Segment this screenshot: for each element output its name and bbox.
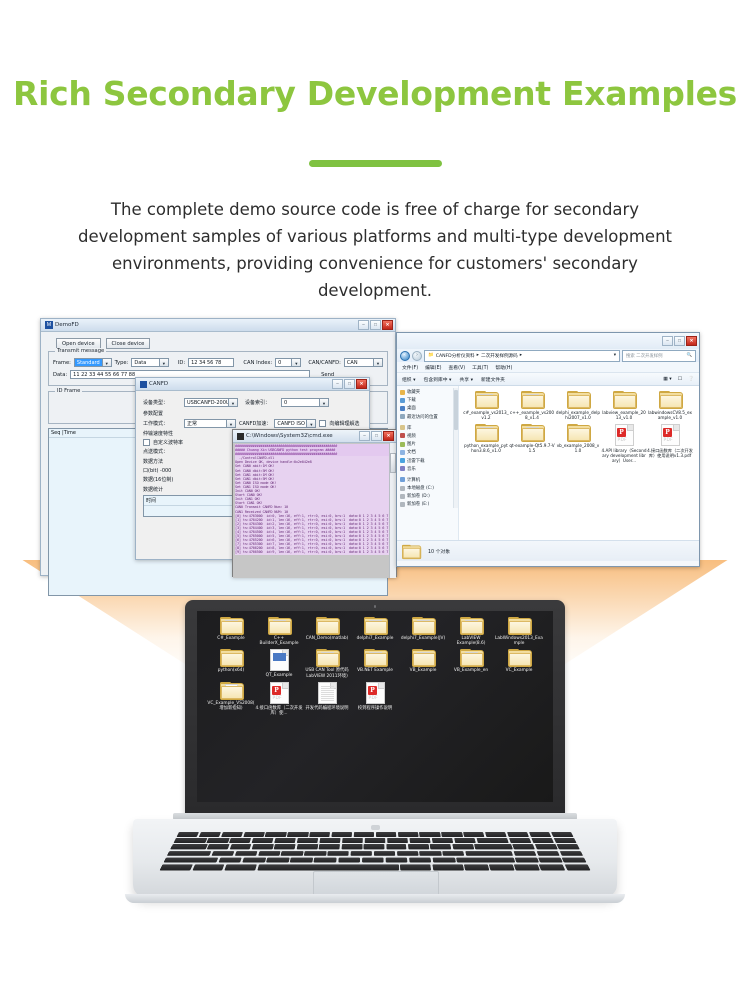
breadcrumb-item-1[interactable]: 二次开发样例源码 <box>481 353 518 359</box>
view-mode-icon[interactable]: ▦ ▾ <box>663 377 671 382</box>
tree-node-icon <box>400 414 405 419</box>
id-label: ID: <box>178 360 185 366</box>
file-name-label: qt-example-Qt5.9.7-V1.5 <box>509 443 555 453</box>
keyboard-key[interactable] <box>274 844 296 849</box>
desktop-icon[interactable]: LabWindows2013_Example <box>495 617 543 646</box>
keyboard-key[interactable] <box>476 838 509 843</box>
close-device-button[interactable]: Close device <box>106 338 151 349</box>
work-mode-value: 正常 <box>185 420 226 427</box>
sidebar-scrollbar[interactable] <box>453 388 458 508</box>
keyboard-key[interactable] <box>252 844 274 849</box>
sidebar-item-9[interactable]: 音乐 <box>400 466 456 472</box>
desktop-icon[interactable]: PPDF4.接口函数库（二次开发库）使... <box>255 682 303 716</box>
folder-icon <box>460 649 482 666</box>
work-mode-select[interactable]: 正常 ▼ <box>184 419 236 428</box>
tree-node-icon <box>400 433 405 438</box>
new-folder-button[interactable]: 新建文件夹 <box>481 376 505 383</box>
folder-icon <box>268 617 290 634</box>
folder-icon <box>220 649 242 666</box>
file-item[interactable]: vb_example_2008_v1.0 <box>555 424 601 463</box>
keyboard-key[interactable] <box>507 832 529 837</box>
folder-icon <box>316 649 338 666</box>
folder-icon <box>659 391 681 408</box>
close-icon[interactable]: ✕ <box>383 431 394 441</box>
tree-node-icon <box>400 390 405 395</box>
chevron-down-icon[interactable]: ▼ <box>226 420 235 427</box>
keyboard-key[interactable] <box>515 857 539 862</box>
close-icon[interactable]: ✕ <box>686 336 697 346</box>
desktop-icon-grid[interactable]: C#_ExampleC++ BuilderX_ExampleCAN_Demo(m… <box>207 617 553 719</box>
keyboard-key[interactable] <box>419 832 440 837</box>
chevron-down-icon[interactable]: ▼ <box>373 359 382 366</box>
keyboard-key[interactable] <box>432 864 463 870</box>
keyboard-key[interactable] <box>514 851 537 856</box>
folder-icon <box>220 682 242 699</box>
keyboard-key[interactable] <box>538 857 562 862</box>
type-select[interactable]: Data ▼ <box>131 358 168 367</box>
sidebar-item-7[interactable]: 文档 <box>400 449 456 455</box>
keyboard-key[interactable] <box>304 851 326 856</box>
explorer-file-list[interactable]: #c#_example_vs2013_v1.2c++_example_vs200… <box>459 386 699 540</box>
file-item[interactable]: c++_example_vs2008_v1.4 <box>509 391 555 420</box>
minimize-icon[interactable]: – <box>359 431 370 441</box>
breadcrumb-separator: ▸ <box>477 353 479 358</box>
keyboard-key[interactable] <box>207 838 230 843</box>
file-name-label: 4.接口函数库（二次开发库）使用说明v1.3.pdf <box>647 448 693 458</box>
keyboard-key[interactable] <box>454 838 476 843</box>
desktop-icon[interactable]: LabVIEW Example(8.6) <box>447 617 495 646</box>
pdf-file-icon: PPDF <box>366 682 385 704</box>
status-folder-icon <box>402 544 420 558</box>
view-controls[interactable]: ▦ ▾ ☐ ❔ <box>663 377 694 382</box>
desktop-icon[interactable]: delphi7_Example <box>351 617 399 646</box>
keyboard-key[interactable] <box>376 832 397 837</box>
help-icon[interactable]: ❔ <box>688 377 694 382</box>
tree-node-icon <box>400 466 405 471</box>
desktop-icon[interactable]: VB_Example_en <box>447 649 495 678</box>
sidebar-item-label: 收藏夹 <box>407 389 420 395</box>
keyboard-key[interactable] <box>319 844 340 849</box>
demofd-app-icon: M <box>45 321 53 329</box>
explorer-status-bar: 10 个对象 <box>397 540 699 561</box>
keyboard-key[interactable] <box>199 832 221 837</box>
keyboard-key[interactable] <box>252 838 274 843</box>
keyboard-key[interactable] <box>341 844 362 849</box>
keyboard-key[interactable] <box>432 838 454 843</box>
file-item[interactable]: delphi_example_delphi2007_v1.0 <box>555 391 601 420</box>
desktop-icon[interactable]: C++ BuilderX_Example <box>255 617 303 646</box>
console-titlebar[interactable]: C:\Windows\System32\cmd.exe – □ ✕ <box>233 430 396 443</box>
pdf-file-icon: PPDF <box>661 424 680 446</box>
keyboard-key[interactable] <box>177 832 200 837</box>
keyboard-key[interactable] <box>557 844 580 849</box>
organize-button[interactable]: 组织 ▾ <box>402 376 416 383</box>
file-item[interactable]: qt-example-Qt5.9.7-V1.5 <box>509 424 555 463</box>
folder-icon <box>475 424 497 441</box>
webcam-icon <box>374 605 377 608</box>
keyboard-key[interactable] <box>243 832 265 837</box>
maximize-icon[interactable]: □ <box>674 336 685 346</box>
keyboard-key[interactable] <box>441 832 462 837</box>
desktop-icon[interactable]: USB CAN Tool 原代码LabVIEW 2011环境) <box>303 649 351 678</box>
work-mode-row: 工作模式： 正常 ▼ CANFD加速： CANFD ISO ▼ 向编辑理解选 <box>143 419 366 428</box>
file-name-label: c#_example_vs2013_v1.2 <box>463 410 509 420</box>
keyboard-key[interactable] <box>297 844 318 849</box>
sidebar-item-11[interactable]: 本地磁盘 (C:) <box>400 485 456 491</box>
minimize-icon[interactable]: – <box>662 336 673 346</box>
menu-view[interactable]: 查看(V) <box>448 364 465 371</box>
canfd-window-controls[interactable]: – □ ✕ <box>332 379 367 389</box>
sidebar-item-label: 本地磁盘 (C:) <box>407 485 434 491</box>
flow-label-2: 数据(16位制) <box>143 476 173 483</box>
keyboard-row <box>160 864 590 870</box>
explorer-titlebar[interactable]: – □ ✕ <box>397 333 699 349</box>
chevron-down-icon[interactable]: ▼ <box>102 359 111 366</box>
chevron-down-icon[interactable]: ▾ <box>614 353 616 358</box>
sidebar-item-1[interactable]: 下载 <box>400 397 456 403</box>
keyboard-key[interactable] <box>465 851 513 856</box>
keyboard-key[interactable] <box>464 864 489 870</box>
can-canfd-label: CAN/CANFD: <box>308 360 341 366</box>
desktop-icon[interactable]: VB_Example <box>399 649 447 678</box>
tree-node-icon <box>400 486 405 491</box>
keyboard-key[interactable] <box>400 864 431 870</box>
desktop-icon-label: LabVIEW Example(8.6) <box>447 636 495 646</box>
keyboard-key[interactable] <box>160 864 193 870</box>
send-mode-label: 点送模式： <box>143 448 168 455</box>
canfd-titlebar[interactable]: CANFD – □ ✕ <box>136 378 369 391</box>
laptop-keyboard[interactable] <box>164 832 587 862</box>
device-type-label: 设备类型： <box>143 399 181 406</box>
desktop-icon[interactable]: 开发代码编程环境说明 <box>303 682 351 716</box>
demofd-window-controls[interactable]: – □ ✕ <box>358 320 393 330</box>
file-item[interactable]: python_example_python3.8.6_v1.0 <box>463 424 509 463</box>
desktop-icon-label: VB_Example_en <box>454 668 488 673</box>
demofd-title: DemoFD <box>55 322 358 328</box>
laptop-base <box>133 819 617 897</box>
keyboard-key[interactable] <box>229 838 251 843</box>
forward-icon[interactable]: › <box>412 351 422 361</box>
keyboard-key[interactable] <box>386 844 407 849</box>
transmit-field-row-1: Frame: Standard ▼ Type: Data ▼ ID: 12 34… <box>53 358 383 367</box>
desktop-icon-label: 开发代码编程环境说明 <box>306 706 349 711</box>
chevron-down-icon[interactable]: ▼ <box>228 399 237 406</box>
keyboard-key[interactable] <box>211 851 234 856</box>
frame-value: Standard <box>75 359 102 366</box>
file-name-label: labwindowsCV8.5_example_v1.0 <box>647 410 693 420</box>
file-item[interactable]: labwindowsCV8.5_example_v1.0 <box>647 391 693 420</box>
file-item[interactable]: labview_example_2013_v1.0 <box>601 391 647 420</box>
folder-icon <box>567 424 589 441</box>
keyboard-key[interactable] <box>514 864 539 870</box>
keyboard-key[interactable] <box>287 832 308 837</box>
keyboard-key[interactable] <box>474 844 513 849</box>
laptop-lid: C#_ExampleC++ BuilderX_ExampleCAN_Demo(m… <box>185 600 565 815</box>
file-item[interactable]: PPDF4.接口函数库（二次开发库）使用说明v1.3.pdf <box>647 424 693 463</box>
keyboard-row <box>173 838 576 843</box>
chevron-down-icon[interactable]: ▼ <box>306 420 315 427</box>
keyboard-key[interactable] <box>225 864 257 870</box>
minimize-icon[interactable]: – <box>358 320 369 330</box>
keyboard-key[interactable] <box>364 844 385 849</box>
close-icon[interactable]: ✕ <box>382 320 393 330</box>
desktop-icon[interactable]: C#_Example <box>207 617 255 646</box>
folder-icon <box>412 649 434 666</box>
keyboard-key[interactable] <box>452 844 474 849</box>
keyboard-key[interactable] <box>485 832 507 837</box>
file-name-label: vb_example_2008_v1.0 <box>555 443 601 453</box>
keyboard-key[interactable] <box>265 832 287 837</box>
keyboard-key[interactable] <box>173 838 206 843</box>
keyboard-key[interactable] <box>539 864 565 870</box>
console-text: ########################################… <box>233 443 396 556</box>
keyboard-key[interactable] <box>442 851 464 856</box>
desktop-icon[interactable]: CAN_Demo(matlab) <box>303 617 351 646</box>
keyboard-key[interactable] <box>314 857 337 862</box>
folder-icon <box>364 617 386 634</box>
keyboard-key[interactable] <box>513 844 535 849</box>
desktop-icon-label: VC_Example_VS2008(增加新指知) <box>207 701 255 711</box>
work-mode-label: 工作模式： <box>143 420 181 427</box>
keyboard-key[interactable] <box>170 844 207 849</box>
sidebar-item-6[interactable]: 图片 <box>400 441 456 447</box>
desktop-icon[interactable]: PPDF校到程序操作说明 <box>351 682 399 716</box>
file-name-label: c++_example_vs2008_v1.4 <box>509 410 555 420</box>
console-scrollbar[interactable] <box>389 443 396 578</box>
maximize-icon[interactable]: □ <box>344 379 355 389</box>
sidebar-item-label: 库 <box>407 425 411 431</box>
keyboard-key[interactable] <box>374 851 395 856</box>
frame-select[interactable]: Standard ▼ <box>74 358 112 367</box>
cmd-console-window[interactable]: C:\Windows\System32\cmd.exe – □ ✕ ######… <box>232 429 397 577</box>
desktop-icon-label: delphi7_Example <box>357 636 394 641</box>
baud-label: 仲输速度特性 <box>143 430 173 437</box>
status-item-count: 10 个对象 <box>428 548 450 555</box>
can-canfd-value: CAN <box>345 359 373 366</box>
desktop-icon[interactable]: delphi7_Example(JV) <box>399 617 447 646</box>
windows-explorer-window[interactable]: – □ ✕ ‹ › 📁 CANFD分析仪资料 ▸ 二次开发样例源码 ▸ ▾ 搜索… <box>396 332 700 567</box>
keyboard-key[interactable] <box>551 832 574 837</box>
minimize-icon[interactable]: – <box>332 379 343 389</box>
keyboard-key[interactable] <box>419 851 441 856</box>
desktop-icon[interactable]: python(x64) <box>207 649 255 678</box>
file-item[interactable]: #c#_example_vs2013_v1.2 <box>463 391 509 420</box>
search-input[interactable]: 搜索 二次开发样例 🔍 <box>622 350 696 362</box>
canfd-accel-label: CANFD加速： <box>239 420 271 427</box>
keyboard-key[interactable] <box>531 838 554 843</box>
type-label: Type: <box>115 360 129 366</box>
close-icon[interactable]: ✕ <box>356 379 367 389</box>
keyboard-row <box>170 844 580 849</box>
sidebar-item-0[interactable]: 收藏夹 <box>400 389 456 395</box>
folder-icon <box>521 391 543 408</box>
keyboard-key[interactable] <box>258 851 281 856</box>
tree-node-icon <box>400 450 405 455</box>
back-icon[interactable]: ‹ <box>400 351 410 361</box>
keyboard-key[interactable] <box>319 838 340 843</box>
keyboard-key[interactable] <box>338 857 360 862</box>
keyboard-key[interactable] <box>309 832 330 837</box>
sidebar-item-2[interactable]: 桌面 <box>400 405 456 411</box>
keyboard-key[interactable] <box>290 857 313 862</box>
tree-node-icon <box>400 442 405 447</box>
sidebar-item-12[interactable]: 新加卷 (D:) <box>400 493 456 499</box>
breadcrumb-item-0[interactable]: CANFD分析仪资料 <box>436 353 475 359</box>
custom-baud-checkbox[interactable] <box>143 439 150 446</box>
keyboard-key[interactable] <box>430 844 451 849</box>
sidebar-item-5[interactable]: 视频 <box>400 433 456 439</box>
canfd-accel-select[interactable]: CANFD ISO ▼ <box>274 419 316 428</box>
keyboard-key[interactable] <box>529 832 551 837</box>
breadcrumb-separator: ▸ <box>520 353 522 358</box>
menu-tools[interactable]: 工具(T) <box>472 364 488 371</box>
console-output-area[interactable]: ########################################… <box>233 443 396 578</box>
desktop-icon-label: VC_Example <box>506 668 533 673</box>
keyboard-key[interactable] <box>350 851 372 856</box>
canfd-app-icon <box>140 381 147 388</box>
param-section-label: 参数配置 <box>143 410 366 417</box>
sidebar-item-10[interactable]: 计算机 <box>400 477 456 483</box>
keyboard-key[interactable] <box>365 838 386 843</box>
keyboard-key[interactable] <box>235 851 258 856</box>
sidebar-item-3[interactable]: 最近访问的位置 <box>400 414 456 420</box>
keyboard-key[interactable] <box>409 838 430 843</box>
frame-label: Frame: <box>53 360 71 366</box>
keyboard-key[interactable] <box>362 857 384 862</box>
sidebar-item-8[interactable]: 迅雷下载 <box>400 458 456 464</box>
explorer-menubar[interactable]: 文件(F) 编辑(E) 查看(V) 工具(T) 帮助(H) <box>397 362 699 372</box>
keyboard-key[interactable] <box>509 838 532 843</box>
explorer-commandbar[interactable]: 组织 ▾ 包含到库中 ▾ 共享 ▾ 新建文件夹 ▦ ▾ ☐ ❔ <box>397 372 699 386</box>
device-index-select[interactable]: 0 ▼ <box>281 398 329 407</box>
keyboard-key[interactable] <box>281 851 303 856</box>
keyboard-key[interactable] <box>163 857 218 862</box>
keyboard-key[interactable] <box>297 838 319 843</box>
power-button[interactable] <box>371 825 380 830</box>
chevron-down-icon[interactable]: ▼ <box>319 399 328 406</box>
folder-icon: # <box>475 391 497 408</box>
maximize-icon[interactable]: □ <box>370 320 381 330</box>
explorer-navigation-bar[interactable]: ‹ › 📁 CANFD分析仪资料 ▸ 二次开发样例源码 ▸ ▾ 搜索 二次开发样… <box>397 349 699 362</box>
keyboard-key[interactable] <box>397 851 419 856</box>
sidebar-item-label: 迅雷下载 <box>407 458 425 464</box>
keyboard-key[interactable] <box>398 832 419 837</box>
device-type-select[interactable]: USBCANFD-200U ▼ <box>184 398 238 407</box>
scrollbar-thumb[interactable] <box>454 390 458 430</box>
keyboard-key[interactable] <box>327 851 349 856</box>
keyboard-key[interactable] <box>387 838 408 843</box>
desktop-icon-label: 4.接口函数库（二次开发库）使... <box>255 706 303 716</box>
file-item[interactable]: PPDF4.API library（Secondary development … <box>601 424 647 463</box>
id-input[interactable]: 12 34 56 78 <box>188 358 234 367</box>
keyboard-key[interactable] <box>242 857 266 862</box>
can-index-select[interactable]: 0 ▼ <box>275 358 301 367</box>
document-file-icon <box>270 649 289 671</box>
sidebar-item-label: 新加卷 (D:) <box>407 493 430 499</box>
accel-checkbox-label: 向编辑理解选 <box>329 420 359 427</box>
pdf-file-icon: PPDF <box>615 424 634 446</box>
tree-node-icon <box>400 477 405 482</box>
keyboard-row <box>177 832 574 837</box>
preview-pane-icon[interactable]: ☐ <box>678 377 682 382</box>
console-title: C:\Windows\System32\cmd.exe <box>246 433 359 439</box>
keyboard-key[interactable] <box>229 844 251 849</box>
can-canfd-select[interactable]: CAN ▼ <box>344 358 383 367</box>
keyboard-key[interactable] <box>535 844 558 849</box>
sidebar-item-13[interactable]: 新加卷 (E:) <box>400 501 456 507</box>
desktop-icon[interactable]: QT_Example <box>255 649 303 678</box>
keyboard-key[interactable] <box>408 844 429 849</box>
keyboard-key[interactable] <box>257 864 399 870</box>
keyboard-key[interactable] <box>331 832 352 837</box>
chevron-down-icon[interactable]: ▼ <box>159 359 168 366</box>
keyboard-key[interactable] <box>463 832 485 837</box>
folder-icon <box>220 617 242 634</box>
keyboard-key[interactable] <box>221 832 243 837</box>
laptop-mockup: C#_ExampleC++ BuilderX_ExampleCAN_Demo(m… <box>125 600 625 930</box>
desktop-icon-label: 校到程序操作说明 <box>358 706 392 711</box>
accel-checkbox[interactable] <box>319 420 326 427</box>
desktop-icon-label: QT_Example <box>266 673 293 678</box>
keyboard-key[interactable] <box>456 857 515 862</box>
explorer-main-area: 收藏夹下载桌面最近访问的位置库视频图片文档迅雷下载音乐计算机本地磁盘 (C:)新… <box>397 386 699 540</box>
maximize-icon[interactable]: □ <box>371 431 382 441</box>
menu-edit[interactable]: 编辑(E) <box>425 364 441 371</box>
menu-help[interactable]: 帮助(H) <box>495 364 512 371</box>
search-icon[interactable]: 🔍 <box>687 353 692 358</box>
keyboard-key[interactable] <box>167 851 212 856</box>
keyboard-key[interactable] <box>218 857 242 862</box>
folder-icon <box>508 649 530 666</box>
keyboard-key[interactable] <box>489 864 514 870</box>
keyboard-key[interactable] <box>274 838 296 843</box>
keyboard-key[interactable] <box>536 851 560 856</box>
menu-file[interactable]: 文件(F) <box>402 364 418 371</box>
keyboard-key[interactable] <box>409 857 432 862</box>
keyboard-key[interactable] <box>342 838 363 843</box>
keyboard-key[interactable] <box>559 851 583 856</box>
keyboard-key[interactable] <box>562 857 587 862</box>
share-button[interactable]: 共享 ▾ <box>459 376 473 383</box>
desktop-icon-label: python(x64) <box>218 668 244 673</box>
keyboard-key[interactable] <box>385 857 407 862</box>
device-index-value: 0 <box>282 399 319 406</box>
keyboard-key[interactable] <box>266 857 289 862</box>
demofd-titlebar[interactable]: M DemoFD – □ ✕ <box>41 319 395 332</box>
keyboard-key[interactable] <box>553 838 576 843</box>
console-line: [9] ts:4766500 id:9, len:16, eff:1, rtr:… <box>235 550 394 554</box>
include-in-library-button[interactable]: 包含到库中 ▾ <box>424 376 452 383</box>
sidebar-item-4[interactable]: 库 <box>400 425 456 431</box>
device-button-row: Open device Close device <box>56 338 392 349</box>
console-window-controls[interactable]: – □ ✕ <box>359 431 394 441</box>
explorer-navigation-pane[interactable]: 收藏夹下载桌面最近访问的位置库视频图片文档迅雷下载音乐计算机本地磁盘 (C:)新… <box>397 386 459 540</box>
chevron-down-icon[interactable]: ▼ <box>291 359 300 366</box>
keyboard-key[interactable] <box>207 844 230 849</box>
desktop-icon[interactable]: VB.NET Example <box>351 649 399 678</box>
folder-icon <box>508 617 530 634</box>
keyboard-key[interactable] <box>192 864 225 870</box>
desktop-icon[interactable]: VC_Example_VS2008(增加新指知) <box>207 682 255 716</box>
laptop-screen[interactable]: C#_ExampleC++ BuilderX_ExampleCAN_Demo(m… <box>197 611 553 802</box>
keyboard-key[interactable] <box>564 864 590 870</box>
keyboard-key[interactable] <box>433 857 456 862</box>
desktop-icon[interactable]: VC_Example <box>495 649 543 678</box>
id-frame-label: ID Frame <box>55 388 82 394</box>
keyboard-key[interactable] <box>354 832 375 837</box>
breadcrumb[interactable]: 📁 CANFD分析仪资料 ▸ 二次开发样例源码 ▸ ▾ <box>424 350 620 362</box>
file-name-label: labview_example_2013_v1.0 <box>601 410 647 420</box>
